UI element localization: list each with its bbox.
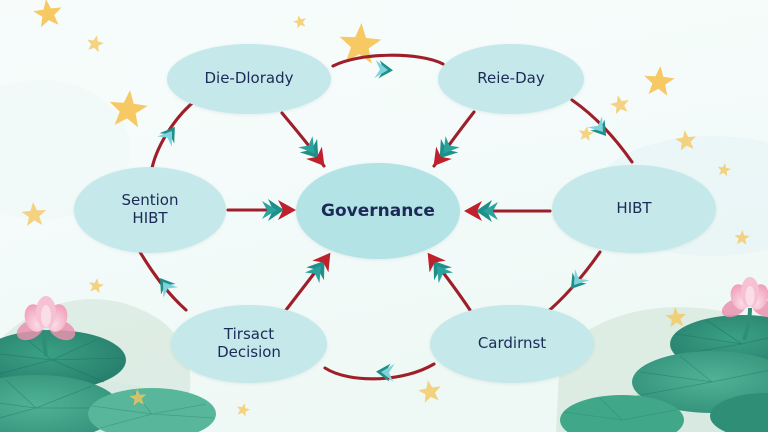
node-die-dlorady-label: Die-Dlorady	[196, 70, 301, 88]
node-cardirnst-label: Cardirnst	[470, 335, 554, 353]
node-layer: Die-DloradyReie-DaySention HIBTHIBTTirsa…	[0, 0, 768, 432]
node-sention-hibt-label: Sention HIBT	[114, 192, 187, 227]
node-hibt-label: HIBT	[608, 200, 659, 218]
node-tirsact-decision-label: Tirsact Decision	[209, 326, 289, 361]
node-tirsact-decision[interactable]: Tirsact Decision	[171, 305, 327, 383]
governance[interactable]: Governance	[296, 163, 460, 259]
node-cardirnst[interactable]: Cardirnst	[430, 305, 594, 383]
diagram-canvas: Die-DloradyReie-DaySention HIBTHIBTTirsa…	[0, 0, 768, 432]
node-sention-hibt[interactable]: Sention HIBT	[74, 167, 226, 253]
governance-label: Governance	[313, 201, 443, 221]
node-reie-day-label: Reie-Day	[469, 70, 552, 88]
node-die-dlorady[interactable]: Die-Dlorady	[167, 44, 331, 114]
node-reie-day[interactable]: Reie-Day	[438, 44, 584, 114]
node-hibt[interactable]: HIBT	[552, 165, 716, 253]
